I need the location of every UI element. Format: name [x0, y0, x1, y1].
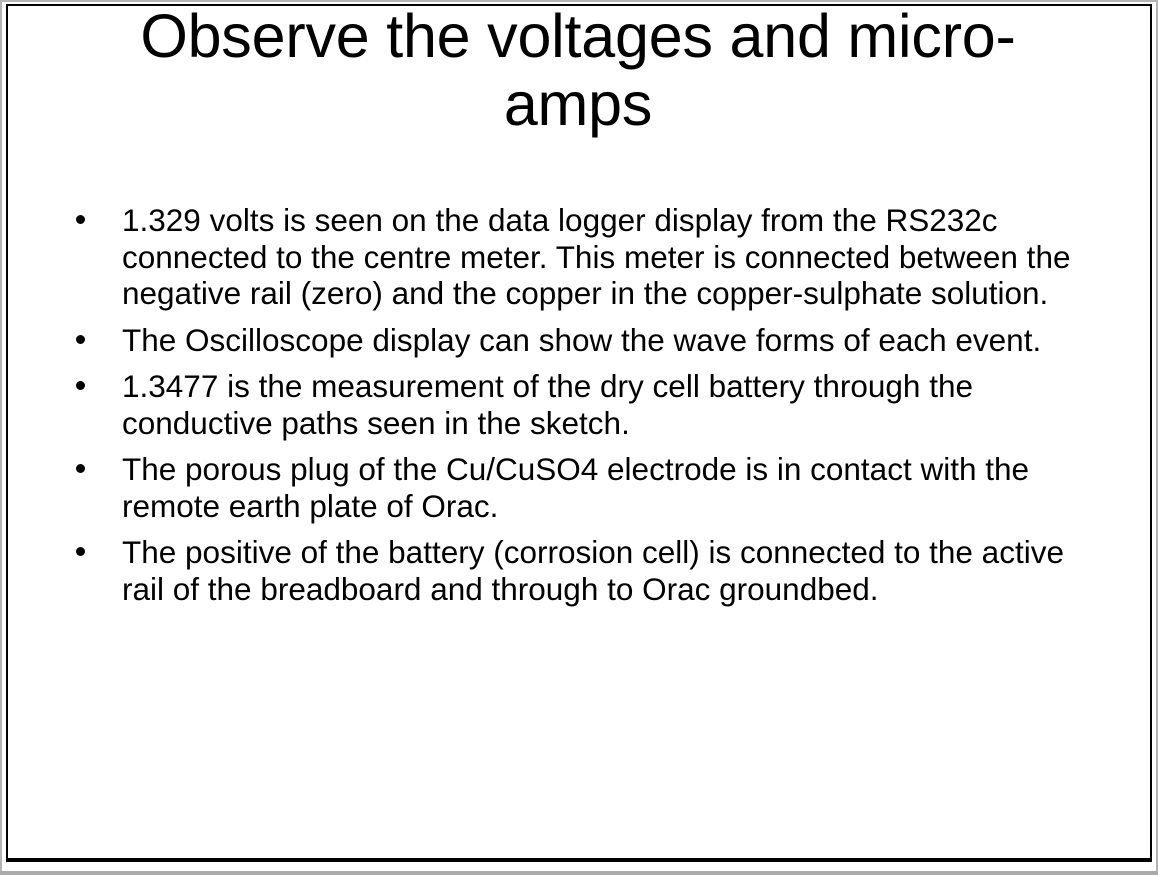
- bullet-dot-icon: [76, 464, 85, 473]
- list-item: 1.329 volts is seen on the data logger d…: [64, 202, 1094, 312]
- slide-shadow-left: [0, 0, 2, 875]
- list-item-text: 1.3477 is the measurement of the dry cel…: [122, 368, 1094, 441]
- slide-shadow-top: [0, 0, 1158, 2]
- slide-title: Observe the voltages and micro-amps: [68, 4, 1088, 138]
- list-item-text: 1.329 volts is seen on the data logger d…: [122, 202, 1094, 312]
- slide-bullet-list: 1.329 volts is seen on the data logger d…: [64, 202, 1094, 607]
- list-item-text: The positive of the battery (corrosion c…: [122, 534, 1094, 607]
- list-item: 1.3477 is the measurement of the dry cel…: [64, 368, 1094, 441]
- bullet-dot-icon: [76, 215, 85, 224]
- list-item-text: The porous plug of the Cu/CuSO4 electrod…: [122, 451, 1094, 524]
- list-item: The porous plug of the Cu/CuSO4 electrod…: [64, 451, 1094, 524]
- slide-content-area: Observe the voltages and micro-amps 1.32…: [8, 6, 1150, 858]
- list-item-text: The Oscilloscope display can show the wa…: [122, 322, 1094, 359]
- slide-frame: Observe the voltages and micro-amps 1.32…: [6, 4, 1152, 862]
- list-item: The positive of the battery (corrosion c…: [64, 534, 1094, 607]
- list-item: The Oscilloscope display can show the wa…: [64, 322, 1094, 359]
- bullet-dot-icon: [76, 547, 85, 556]
- bullet-dot-icon: [76, 381, 85, 390]
- bullet-dot-icon: [76, 335, 85, 344]
- slide-shadow-bottom: [0, 871, 1158, 875]
- slide-canvas: Observe the voltages and micro-amps 1.32…: [0, 0, 1158, 875]
